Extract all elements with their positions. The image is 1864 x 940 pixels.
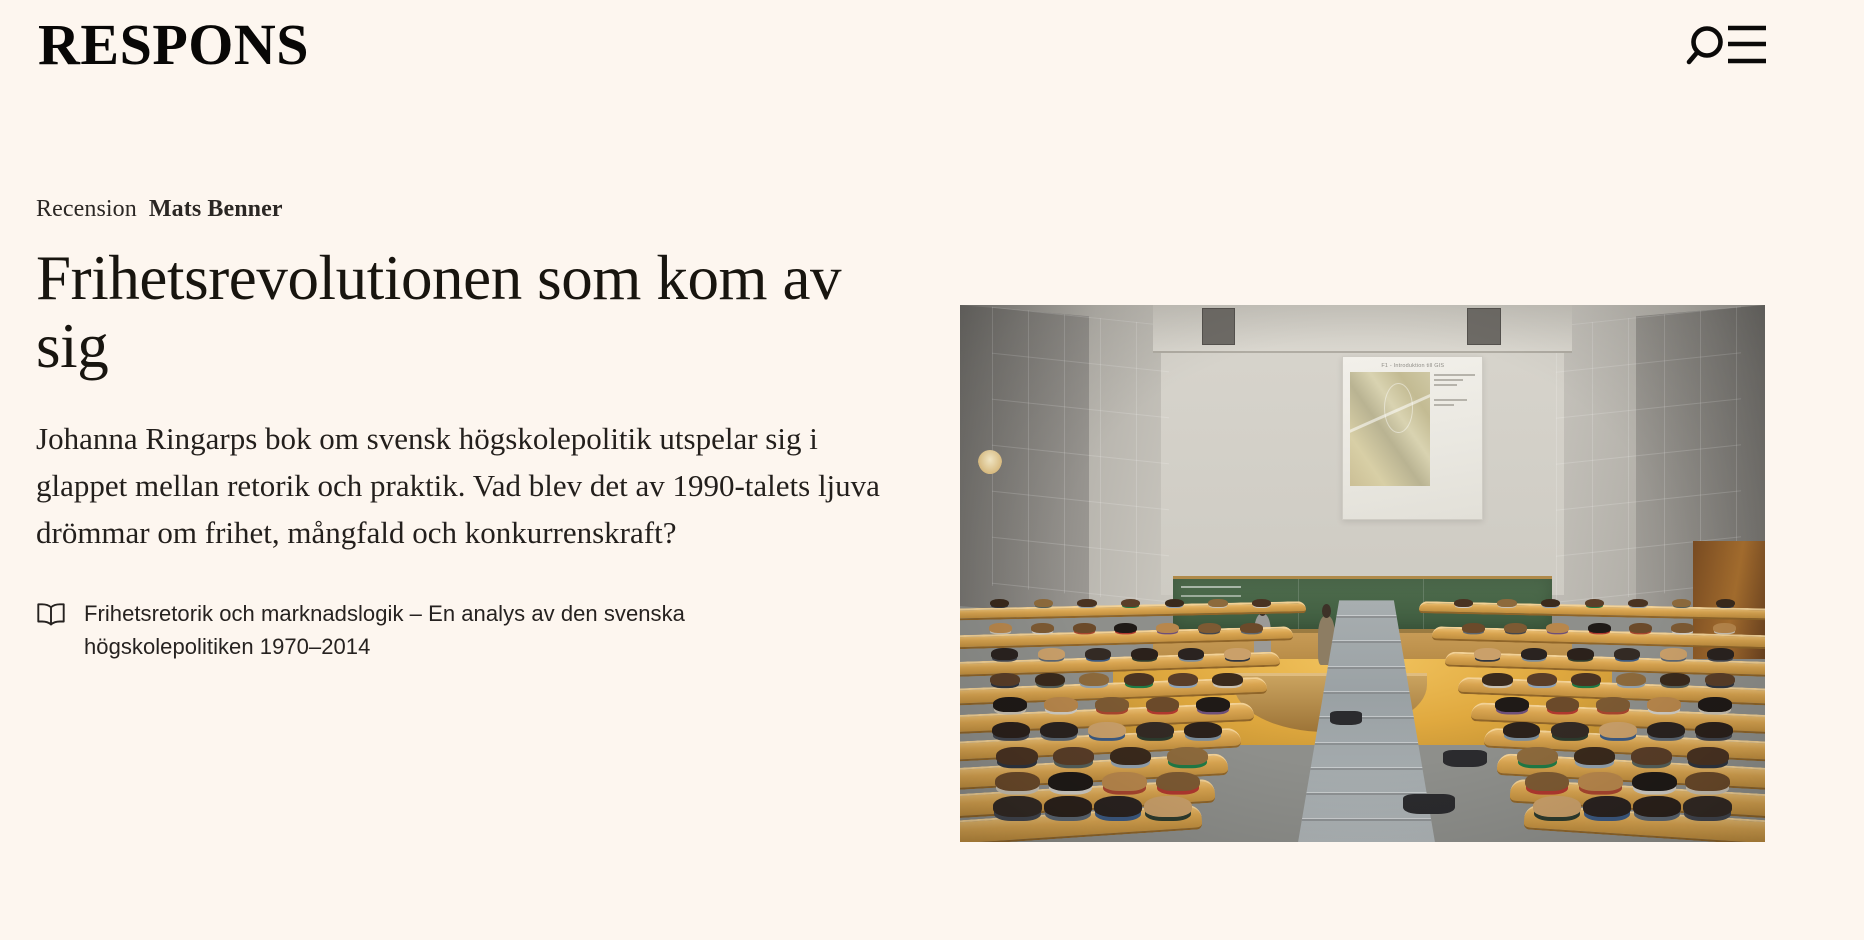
- article-media: F1 - Introduktion till GIS: [960, 305, 1765, 842]
- photo-student: [1546, 623, 1569, 633]
- search-menu-icon[interactable]: [1684, 22, 1770, 68]
- photo-wall-sconce: [978, 450, 1002, 474]
- photo-student: [1102, 772, 1147, 791]
- article-teaser: Recension Mats Benner Frihetsrevolutione…: [0, 110, 1864, 842]
- search-menu-button[interactable]: [1684, 22, 1770, 68]
- photo-student: [1168, 673, 1198, 686]
- photo-student: [990, 673, 1020, 686]
- photo-student: [1495, 697, 1529, 712]
- photo-slide-map-image: [1350, 372, 1430, 486]
- photo-student: [1474, 648, 1501, 660]
- photo-student: [1085, 648, 1112, 660]
- photo-student: [1094, 796, 1142, 817]
- photo-student: [1114, 623, 1137, 633]
- photo-student: [1517, 747, 1558, 765]
- photo-student: [1167, 747, 1208, 765]
- photo-student: [1633, 796, 1681, 817]
- lecture-hall-photo[interactable]: F1 - Introduktion till GIS: [960, 305, 1765, 842]
- photo-student: [1462, 623, 1485, 633]
- photo-student: [1599, 722, 1636, 738]
- photo-student: [1038, 648, 1065, 660]
- photo-student: [1048, 772, 1093, 791]
- photo-student: [1525, 772, 1570, 791]
- photo-student: [1034, 599, 1053, 607]
- photo-student: [1628, 599, 1647, 607]
- photo-student: [1503, 722, 1540, 738]
- photo-speaker-left: [1202, 308, 1236, 346]
- photo-student: [1571, 673, 1601, 686]
- photo-student: [1629, 623, 1652, 633]
- photo-student: [1178, 648, 1205, 660]
- photo-student: [1224, 648, 1251, 660]
- photo-student: [1198, 623, 1221, 633]
- article-category[interactable]: Recension: [36, 195, 137, 224]
- open-book-icon: [36, 602, 66, 628]
- photo-student: [1095, 697, 1129, 712]
- article-author[interactable]: Mats Benner: [149, 195, 283, 224]
- photo-student: [990, 599, 1009, 607]
- photo-student: [1672, 599, 1691, 607]
- photo-acoustic-panels-left: [992, 306, 1169, 604]
- photo-student: [1713, 623, 1736, 633]
- photo-student: [1079, 673, 1109, 686]
- photo-student: [1196, 697, 1230, 712]
- photo-student: [1660, 648, 1687, 660]
- photo-student: [1040, 722, 1077, 738]
- photo-student: [1583, 796, 1631, 817]
- photo-slide-body: [1350, 372, 1475, 486]
- photo-student: [1533, 796, 1581, 817]
- site-header: RESPONS: [0, 0, 1864, 110]
- photo-backpack: [1443, 750, 1487, 767]
- photo-backpack: [1403, 794, 1455, 815]
- photo-student: [1647, 697, 1681, 712]
- photo-student: [1184, 722, 1221, 738]
- photo-student: [995, 772, 1040, 791]
- photo-student: [1088, 722, 1125, 738]
- article-headline[interactable]: Frihetsrevolutionen som kom av sig: [36, 244, 892, 381]
- photo-backpack: [1330, 711, 1362, 724]
- photo-student: [1454, 599, 1473, 607]
- photo-student: [993, 697, 1027, 712]
- photo-projection-screen: F1 - Introduktion till GIS: [1342, 356, 1483, 520]
- photo-student: [1631, 747, 1672, 765]
- photo-student: [1660, 673, 1690, 686]
- photo-student: [1497, 599, 1516, 607]
- photo-seating-rows: [960, 600, 1765, 842]
- photo-student: [1683, 796, 1731, 817]
- photo-student: [1567, 648, 1594, 660]
- photo-student: [989, 623, 1012, 633]
- photo-student: [1698, 697, 1732, 712]
- photo-student: [1574, 747, 1615, 765]
- photo-student: [1035, 673, 1065, 686]
- photo-student: [1252, 599, 1271, 607]
- photo-student: [1212, 673, 1242, 686]
- photo-student: [1121, 599, 1140, 607]
- photo-student: [1614, 648, 1641, 660]
- photo-student: [1136, 722, 1173, 738]
- photo-student: [993, 796, 1041, 817]
- photo-student: [1053, 747, 1094, 765]
- book-reference[interactable]: Frihetsretorik och marknadslogik – En an…: [36, 598, 836, 663]
- photo-student: [1208, 599, 1227, 607]
- photo-slide-text-lines: [1434, 372, 1475, 486]
- photo-student: [1647, 722, 1684, 738]
- photo-student: [1482, 673, 1512, 686]
- photo-student: [1504, 623, 1527, 633]
- photo-student: [1541, 599, 1560, 607]
- photo-student: [991, 648, 1018, 660]
- photo-student: [1695, 722, 1732, 738]
- photo-student: [1596, 697, 1630, 712]
- photo-student: [1165, 599, 1184, 607]
- photo-student: [1156, 623, 1179, 633]
- photo-student: [1705, 673, 1735, 686]
- photo-student: [1546, 697, 1580, 712]
- photo-student: [1578, 772, 1623, 791]
- photo-student: [1131, 648, 1158, 660]
- photo-student: [1031, 623, 1054, 633]
- article-text-column: Recension Mats Benner Frihetsrevolutione…: [36, 110, 952, 664]
- photo-student: [1687, 747, 1728, 765]
- photo-student: [996, 747, 1037, 765]
- photo-student: [1044, 697, 1078, 712]
- photo-student: [1156, 772, 1201, 791]
- photo-student: [1707, 648, 1734, 660]
- photo-student: [1551, 722, 1588, 738]
- photo-slide-title: F1 - Introduktion till GIS: [1350, 363, 1475, 369]
- photo-student: [1527, 673, 1557, 686]
- site-logo[interactable]: RESPONS: [38, 16, 309, 74]
- photo-student: [1716, 599, 1735, 607]
- article-kicker: Recension Mats Benner: [36, 195, 892, 224]
- photo-student: [992, 722, 1029, 738]
- photo-student: [1110, 747, 1151, 765]
- photo-student: [1146, 697, 1180, 712]
- book-reference-title: Frihetsretorik och marknadslogik – En an…: [84, 598, 836, 663]
- photo-speaker-right: [1467, 308, 1501, 346]
- photo-student: [1685, 772, 1730, 791]
- photo-student: [1144, 796, 1192, 817]
- photo-student: [1044, 796, 1092, 817]
- photo-student: [1671, 623, 1694, 633]
- photo-student: [1632, 772, 1677, 791]
- article-standfirst: Johanna Ringarps bok om svensk högskolep…: [36, 415, 892, 556]
- photo-student: [1124, 673, 1154, 686]
- photo-student: [1240, 623, 1263, 633]
- photo-student: [1077, 599, 1096, 607]
- photo-student: [1585, 599, 1604, 607]
- photo-student: [1521, 648, 1548, 660]
- photo-student: [1073, 623, 1096, 633]
- photo-student: [1588, 623, 1611, 633]
- photo-student: [1616, 673, 1646, 686]
